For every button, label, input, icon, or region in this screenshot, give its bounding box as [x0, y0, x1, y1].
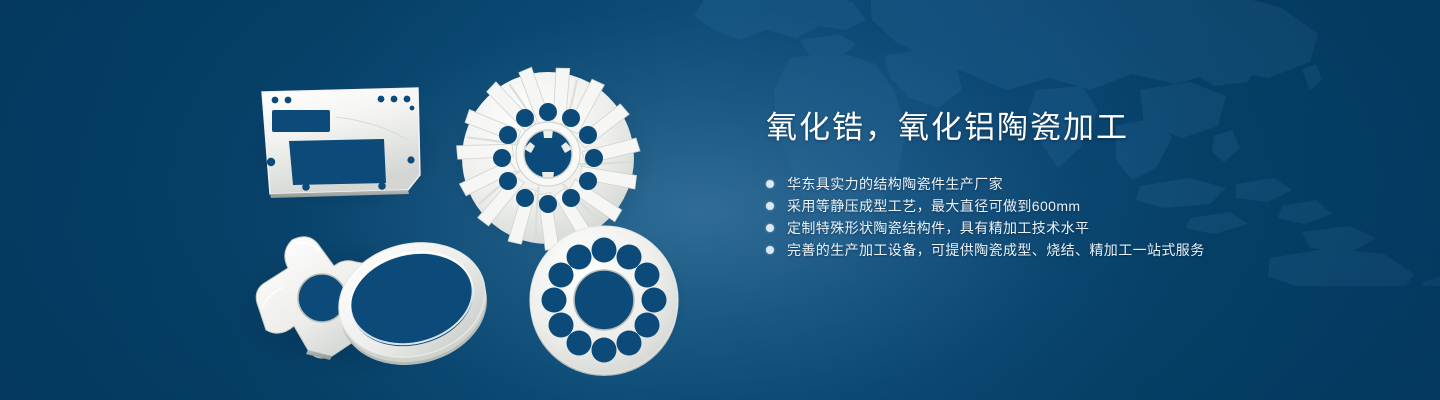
feature-text: 定制特殊形状陶瓷结构件，具有精加工技术水平 — [787, 217, 1089, 239]
ceramic-plate-part — [262, 88, 420, 198]
feature-text: 华东具实力的结构陶瓷件生产厂家 — [787, 173, 1003, 195]
bullet-dot-icon — [766, 246, 774, 254]
ceramic-perforated-disc-part — [530, 226, 678, 376]
feature-text: 完善的生产加工设备，可提供陶瓷成型、烧结、精加工一站式服务 — [787, 239, 1205, 261]
ceramic-products-image — [0, 0, 740, 400]
banner-headline: 氧化锆，氧化铝陶瓷加工 — [766, 108, 1386, 148]
feature-text: 采用等静压成型工艺，最大直径可做到600mm — [787, 195, 1080, 217]
bullet-dot-icon — [766, 224, 774, 232]
list-item: 定制特殊形状陶瓷结构件，具有精加工技术水平 — [766, 217, 1386, 239]
bullet-dot-icon — [766, 202, 774, 210]
list-item: 华东具实力的结构陶瓷件生产厂家 — [766, 173, 1386, 195]
list-item: 采用等静压成型工艺，最大直径可做到600mm — [766, 195, 1386, 217]
feature-list: 华东具实力的结构陶瓷件生产厂家 采用等静压成型工艺，最大直径可做到600mm 定… — [766, 173, 1386, 261]
bullet-dot-icon — [766, 180, 774, 188]
promo-banner: 氧化锆，氧化铝陶瓷加工 华东具实力的结构陶瓷件生产厂家 采用等静压成型工艺，最大… — [0, 0, 1440, 400]
banner-text-block: 氧化锆，氧化铝陶瓷加工 华东具实力的结构陶瓷件生产厂家 采用等静压成型工艺，最大… — [766, 108, 1386, 261]
list-item: 完善的生产加工设备，可提供陶瓷成型、烧结、精加工一站式服务 — [766, 239, 1386, 261]
